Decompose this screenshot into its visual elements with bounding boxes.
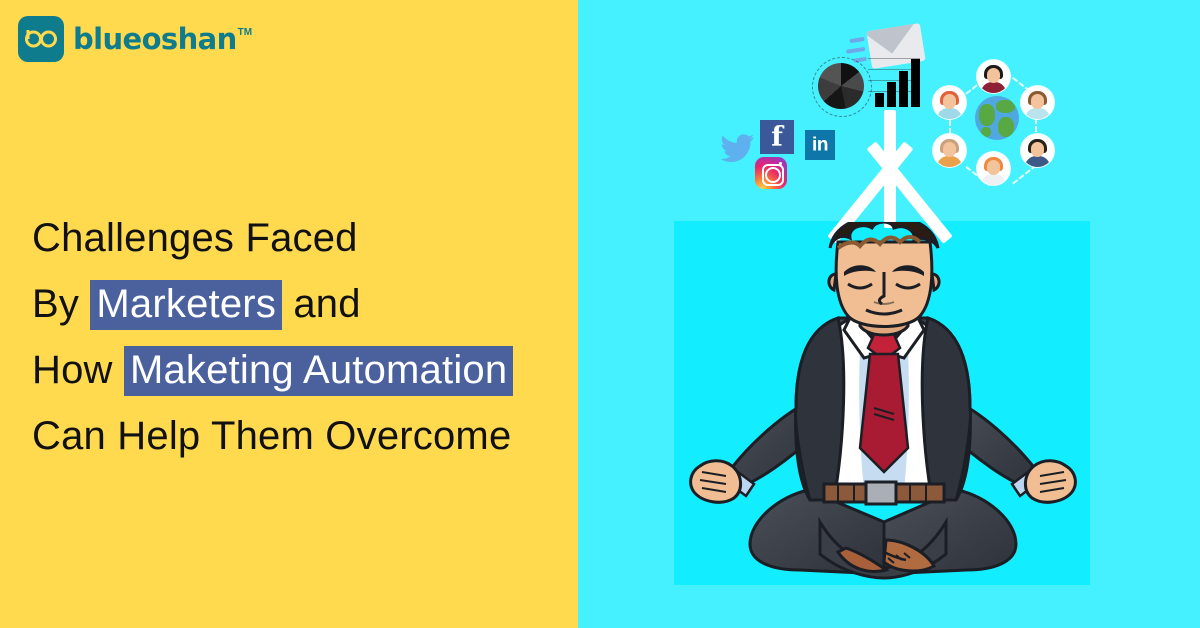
avatar (977, 152, 1010, 185)
network-link-4 (1012, 164, 1037, 184)
instagram-icon[interactable] (755, 157, 787, 189)
headline-line-2-suffix: and (282, 282, 361, 326)
facebook-glyph: f (760, 124, 794, 151)
headline-line-1: Challenges Faced (32, 205, 562, 271)
instagram-flash-dot (779, 162, 782, 165)
global-audience-network (933, 58, 1057, 182)
linkedin-icon[interactable]: in (805, 130, 835, 160)
globe-icon (975, 96, 1019, 140)
avatar (933, 86, 966, 119)
headline-line-2: By Marketers and (32, 271, 562, 337)
twitter-icon[interactable] (719, 134, 755, 164)
linkedin-glyph: in (805, 136, 835, 155)
headline-line-2-prefix: By (32, 282, 90, 326)
avatar (977, 60, 1010, 93)
trademark-symbol: TM (238, 27, 252, 38)
avatar (1021, 86, 1054, 119)
bo-infinity-mark-icon (18, 16, 64, 62)
bar-2 (887, 82, 896, 107)
headline-highlight-marketers: Marketers (90, 280, 282, 330)
bar-3 (899, 71, 908, 107)
headline-line-3: How Maketing Automation (32, 337, 562, 403)
headline-block: Challenges Faced By Marketers and How Ma… (32, 205, 562, 469)
brand-logo[interactable]: blueoshan TM (18, 16, 252, 62)
instagram-lens (765, 167, 781, 183)
avatar (933, 134, 966, 167)
bar-4 (911, 59, 920, 107)
avatar (1021, 134, 1054, 167)
brand-name: blueoshan (73, 25, 237, 54)
marketing-banner: blueoshan TM Challenges Faced By Markete… (0, 0, 1200, 628)
bar-1 (875, 93, 884, 107)
meditating-businessman-illustration (688, 222, 1078, 585)
facebook-icon[interactable]: f (760, 120, 794, 154)
headline-line-3-prefix: How (32, 348, 124, 392)
headline-line-4: Can Help Them Overcome (32, 403, 562, 469)
headline-highlight-marketing-automation: Maketing Automation (124, 346, 513, 396)
pie-chart-icon (818, 63, 864, 109)
bar-chart-icon (875, 57, 923, 107)
